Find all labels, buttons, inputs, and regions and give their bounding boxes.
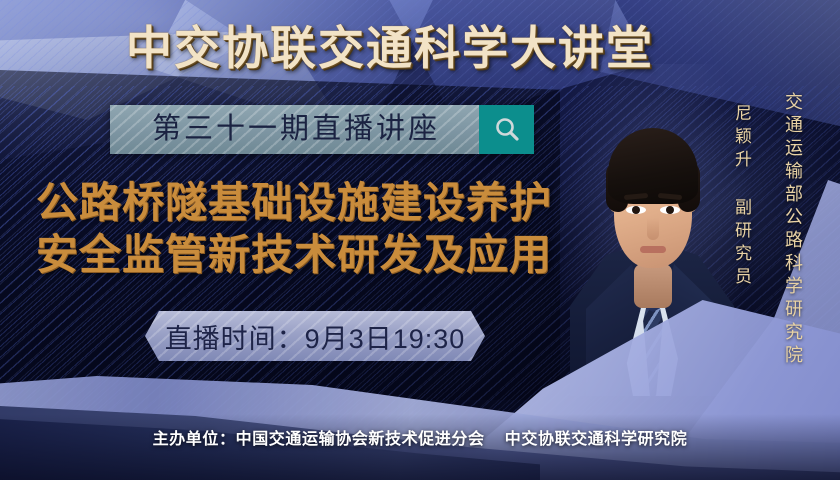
search-icon <box>492 115 522 145</box>
portrait-pupil-left <box>632 206 640 214</box>
portrait-pupil-right <box>666 206 674 214</box>
organizer-footer: 主办单位：中国交通运输协会新技术促进分会 中交协联交通科学研究院 <box>0 425 840 449</box>
episode-label: 第三十一期直播讲座 <box>152 105 440 154</box>
broadcast-time-pill: 直播时间：9月3日19:30 <box>145 311 485 361</box>
lecture-title: 公路桥隧基础设施建设养护 安全监管新技术研发及应用 <box>36 180 596 278</box>
broadcast-time-text: 直播时间：9月3日19:30 <box>145 311 485 361</box>
live-lecture-poster: 中交协联交通科学大讲堂 第三十一期直播讲座 公路桥隧基础设施建设养护 安全监管新… <box>0 0 840 480</box>
portrait-mouth <box>640 246 666 253</box>
page-title: 中交协联交通科学大讲堂 <box>126 20 686 76</box>
episode-banner: 第三十一期直播讲座 <box>110 105 534 154</box>
speaker-name-title: 尼颖升 副研究员 <box>729 104 754 290</box>
lecture-title-line-2: 安全监管新技术研发及应用 <box>36 232 596 278</box>
lecture-title-line-1: 公路桥隧基础设施建设养护 <box>36 180 596 226</box>
speaker-organization: 交通运输部公路科学研究院 <box>780 92 806 368</box>
search-button[interactable] <box>479 105 534 154</box>
portrait-neck <box>634 264 672 308</box>
portrait-nose <box>647 218 659 240</box>
